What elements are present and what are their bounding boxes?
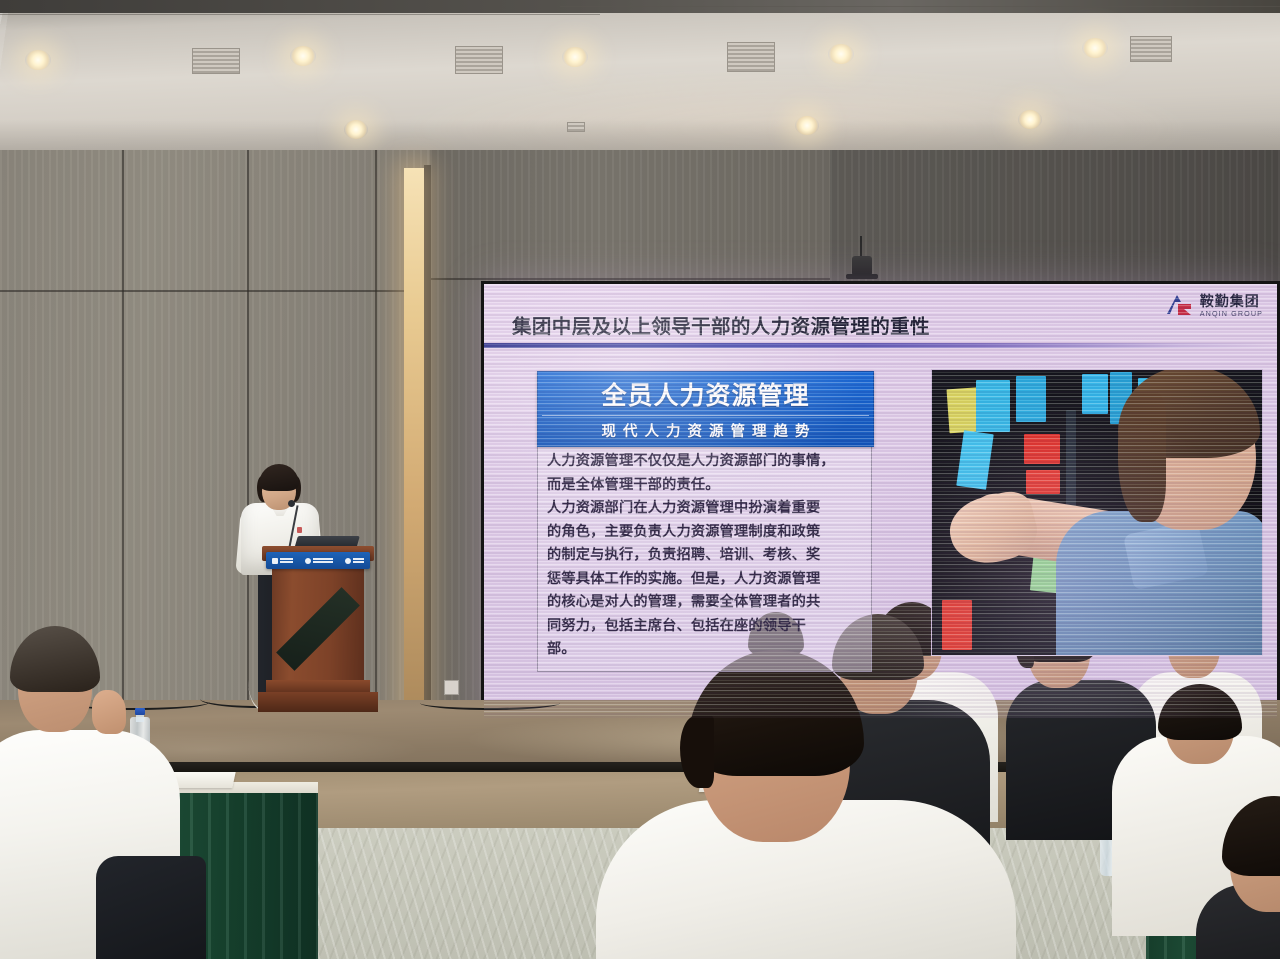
slide-body-line: 的角色，主要负责人力资源管理制度和政策 — [547, 521, 862, 545]
slide-title-underline — [484, 343, 1277, 348]
sticky-note — [942, 600, 972, 650]
slide-headline-main: 全员人力资源管理 — [538, 372, 873, 415]
slide-headline-box: 全员人力资源管理 现代人力资源管理趋势 — [537, 371, 874, 447]
ceiling-seam — [0, 14, 600, 15]
microphone-head — [288, 500, 295, 507]
ceiling-downlight — [25, 50, 51, 70]
ceiling-vent — [192, 48, 240, 74]
podium-banner-logo — [345, 558, 364, 564]
moving-head-light-base — [846, 274, 878, 279]
ceiling-downlight — [290, 46, 316, 66]
moving-head-light — [852, 256, 872, 276]
bottle-cap — [135, 708, 145, 715]
ceiling-vent — [455, 46, 503, 74]
podium-banner-logo — [272, 558, 293, 564]
ceiling-downlight — [1082, 38, 1108, 58]
anqin-logo-icon — [1164, 292, 1195, 319]
wall-seam — [122, 150, 124, 750]
conference-hall-scene: 集团中层及以上领导干部的人力资源管理的重性 鞍勤集团 ANQIN GROUP 全… — [0, 0, 1280, 959]
logo-wordmark: 鞍勤集团 ANQIN GROUP — [1200, 294, 1263, 317]
logo-chinese-name: 鞍勤集团 — [1200, 294, 1263, 308]
photo-person-hair-side — [1118, 392, 1166, 522]
slide-headline-sub: 现代人力资源管理趋势 — [538, 416, 873, 446]
slide-body-line: 惩等具体工作的实施。但是，人力资源管理 — [547, 568, 862, 592]
wall-seam — [375, 150, 377, 750]
logo-english-name: ANQIN GROUP — [1200, 310, 1263, 317]
floor-cable — [420, 696, 560, 710]
ceiling-downlight — [562, 47, 588, 67]
slide-body-line: 部。 — [547, 638, 862, 662]
wall-light-strip — [404, 168, 424, 728]
attendee-hair-side — [680, 716, 714, 788]
ceiling-downlight — [1018, 110, 1042, 129]
wall-seam — [0, 290, 470, 292]
slide-body-line: 人力资源管理不仅仅是人力资源部门的事情， — [547, 450, 862, 474]
podium-banner — [266, 552, 370, 569]
slide-title: 集团中层及以上领导干部的人力资源管理的重性 — [512, 310, 930, 339]
slide-body-line: 同努力，包括主席台、包括在座的领导干 — [547, 615, 862, 639]
column-edge — [424, 165, 431, 731]
company-logo: 鞍勤集团 ANQIN GROUP — [1164, 292, 1263, 319]
banner-text-bars — [280, 558, 293, 562]
ceiling-vent — [1130, 36, 1172, 62]
banner-text-bars — [353, 558, 364, 562]
sticky-note — [1024, 434, 1060, 464]
circle-icon — [305, 558, 311, 564]
slide-body-line: 的制定与执行，负责招聘、培训、考核、奖 — [547, 544, 862, 568]
podium-banner-logo — [305, 558, 333, 564]
ceiling-downlight — [828, 44, 854, 64]
slide-photo — [931, 369, 1263, 656]
ceiling-vent-small — [567, 122, 585, 132]
ceiling-seam — [560, 6, 1280, 7]
ceiling-vent — [727, 42, 775, 72]
ceiling-downlight — [344, 120, 368, 139]
stage-light-mount — [860, 236, 862, 258]
banner-text-bars — [313, 558, 333, 562]
circle-icon — [345, 558, 351, 564]
attendee-leg — [96, 856, 206, 959]
attendee-hand — [92, 690, 126, 734]
triangle-icon — [272, 558, 278, 564]
sticky-note — [1082, 374, 1108, 414]
sticky-note — [1016, 376, 1046, 422]
sticky-note — [1026, 470, 1060, 494]
podium-base — [258, 692, 378, 712]
slide-body-line: 的核心是对人的管理，需要全体管理者的共 — [547, 591, 862, 615]
slide-body-line: 而是全体管理干部的责任。 — [547, 474, 862, 498]
ceiling-downlight — [795, 116, 819, 135]
wall-socket — [444, 680, 459, 695]
slide-body-text: 人力资源管理不仅仅是人力资源部门的事情， 而是全体管理干部的责任。 人力资源部门… — [537, 442, 872, 672]
wall-seam — [430, 278, 850, 280]
wall-seam — [247, 150, 249, 750]
sticky-note — [976, 380, 1010, 432]
speaker-badge — [297, 527, 302, 533]
slide-body-line: 人力资源部门在人力资源管理中扮演着重要 — [547, 497, 862, 521]
